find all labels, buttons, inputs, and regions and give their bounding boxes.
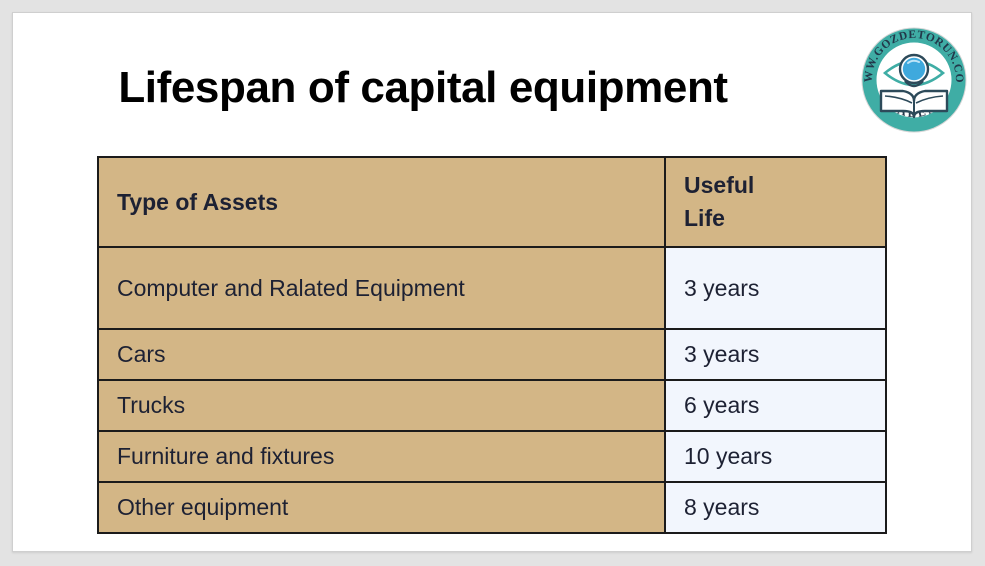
gozdetorun-academy-logo: WWW.GOZDETORUN.COM ACADEMY — [855, 21, 973, 139]
lifespan-table: Type of Assets Useful Life Computer and … — [97, 156, 887, 534]
cell-useful-life: 3 years — [665, 329, 886, 380]
table-header-row: Type of Assets Useful Life — [98, 157, 886, 247]
cell-asset-type: Trucks — [98, 380, 665, 431]
table-row: Furniture and fixtures 10 years — [98, 431, 886, 482]
table-row: Computer and Ralated Equipment 3 years — [98, 247, 886, 329]
column-header-useful-life: Useful Life — [665, 157, 886, 247]
cell-useful-life: 6 years — [665, 380, 886, 431]
table-row: Cars 3 years — [98, 329, 886, 380]
table-row: Trucks 6 years — [98, 380, 886, 431]
cell-useful-life: 3 years — [665, 247, 886, 329]
cell-useful-life: 8 years — [665, 482, 886, 533]
table-row: Other equipment 8 years — [98, 482, 886, 533]
cell-useful-life: 10 years — [665, 431, 886, 482]
page-title: Lifespan of capital equipment — [13, 65, 833, 111]
column-header-type-label: Type of Assets — [117, 189, 278, 215]
cell-asset-type: Computer and Ralated Equipment — [98, 247, 665, 329]
slide-canvas: Lifespan of capital equipment WWW.GOZDET… — [12, 12, 972, 552]
column-header-type: Type of Assets — [98, 157, 665, 247]
cell-asset-type: Furniture and fixtures — [98, 431, 665, 482]
cell-asset-type: Cars — [98, 329, 665, 380]
column-header-useful-life-line1: Useful — [684, 169, 867, 202]
column-header-useful-life-line2: Life — [684, 202, 867, 235]
cell-asset-type: Other equipment — [98, 482, 665, 533]
